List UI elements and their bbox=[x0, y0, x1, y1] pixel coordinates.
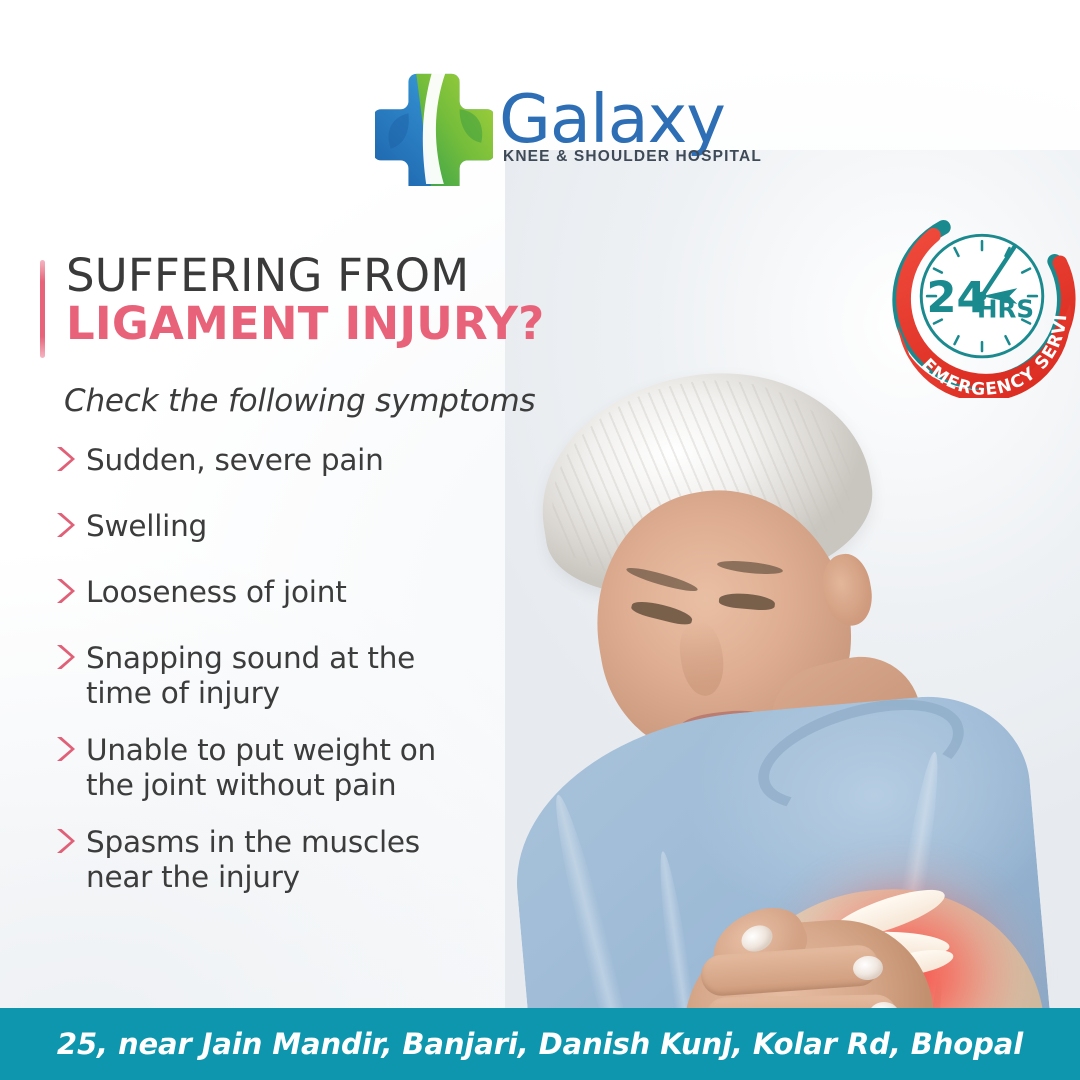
list-item-label: Swelling bbox=[86, 509, 207, 544]
list-item-label: Looseness of joint bbox=[86, 575, 347, 610]
list-item-label: Sudden, severe pain bbox=[86, 443, 384, 478]
list-item: Spasms in the muscles near the injury bbox=[52, 825, 522, 895]
chevron-right-icon bbox=[52, 576, 86, 614]
list-item: Snapping sound at the time of injury bbox=[52, 641, 522, 711]
brand-tagline: KNEE & SHOULDER HOSPITAL bbox=[503, 148, 762, 166]
headline-line-2: LIGAMENT INJURY? bbox=[66, 300, 560, 348]
list-item: Sudden, severe pain bbox=[52, 443, 522, 482]
list-item: Swelling bbox=[52, 509, 522, 548]
chevron-right-icon bbox=[52, 642, 86, 680]
symptom-list: Sudden, severe pain Swelling Looseness o… bbox=[52, 443, 522, 918]
logo-wordmark: Galaxy KNEE & SHOULDER HOSPITAL bbox=[499, 88, 762, 166]
chevron-right-icon bbox=[52, 826, 86, 864]
chevron-right-icon bbox=[52, 510, 86, 548]
brand-logo[interactable]: Galaxy KNEE & SHOULDER HOSPITAL bbox=[375, 62, 755, 192]
emergency-services-badge: 24 HRS EMERGENCY SERVICES bbox=[884, 202, 1080, 398]
list-item: Looseness of joint bbox=[52, 575, 522, 614]
address-text: 25, near Jain Mandir, Banjari, Danish Ku… bbox=[57, 1027, 1023, 1061]
poster-canvas: Galaxy KNEE & SHOULDER HOSPITAL SUFFERIN… bbox=[0, 0, 1080, 1080]
list-item-label: Spasms in the muscles near the injury bbox=[86, 825, 420, 895]
brand-name: Galaxy bbox=[499, 88, 725, 152]
list-item-label: Snapping sound at the time of injury bbox=[86, 641, 415, 711]
headline-accent-bar bbox=[40, 260, 45, 358]
list-item: Unable to put weight on the joint withou… bbox=[52, 733, 522, 803]
headline-line-1: SUFFERING FROM bbox=[66, 252, 560, 300]
chevron-right-icon bbox=[52, 734, 86, 772]
address-banner: 25, near Jain Mandir, Banjari, Danish Ku… bbox=[0, 1008, 1080, 1080]
headline-block: SUFFERING FROM LIGAMENT INJURY? bbox=[40, 252, 560, 347]
medical-cross-logo-icon bbox=[375, 68, 493, 186]
list-item-label: Unable to put weight on the joint withou… bbox=[86, 733, 436, 803]
subtitle: Check the following symptoms bbox=[64, 383, 535, 419]
chevron-right-icon bbox=[52, 444, 86, 482]
badge-hours-unit: HRS bbox=[977, 295, 1034, 324]
headline: SUFFERING FROM LIGAMENT INJURY? bbox=[66, 252, 560, 347]
